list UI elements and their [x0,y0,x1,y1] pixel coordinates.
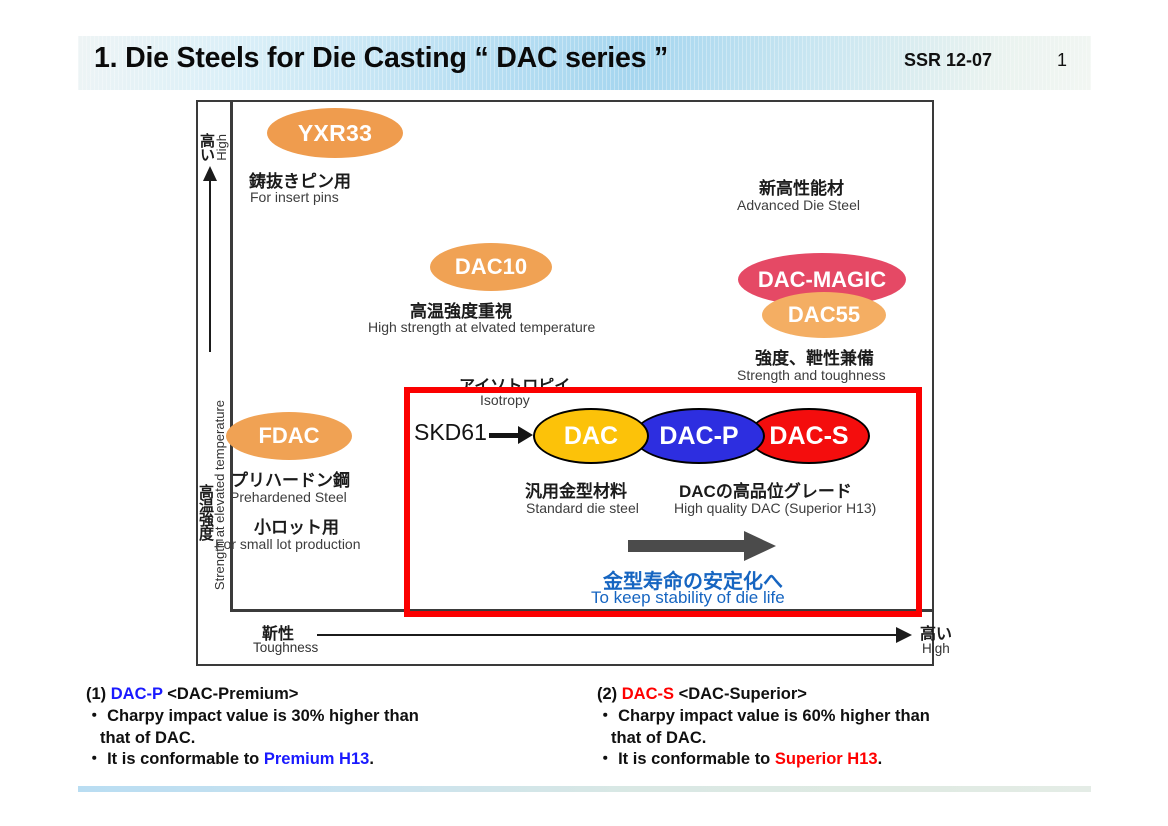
bubble-yxr33[interactable]: YXR33 [267,108,403,158]
note-dac-s-bullet1b: that of DAC. [597,728,1117,750]
caption-dac55-jp: 強度、靾性兼備 [755,344,874,369]
bubble-dac-magic-label: DAC-MAGIC [758,267,886,293]
bubble-dac55-label: DAC55 [788,302,860,328]
bubble-dac-label: DAC [564,422,618,451]
slide-canvas: 1. Die Steels for Die Casting “ DAC seri… [0,0,1168,826]
bubble-yxr33-label: YXR33 [298,120,372,147]
x-axis-line [230,609,932,612]
progress-arrow-icon [744,531,776,561]
skd61-arrow-icon [518,426,533,444]
note-dac-p-bullet1b: that of DAC. [86,728,586,750]
bubble-dac10[interactable]: DAC10 [430,243,552,291]
caption-advanced-jp: 新高性能材 [759,174,844,199]
note-dac-p-bullet1a: ・ Charpy impact value is 30% higher than [86,706,586,728]
note-dac-p-bullet2-accent: Premium H13 [264,750,369,768]
note-dac-s-bullet1a: ・ Charpy impact value is 60% higher than [597,706,1117,728]
note-dac-p-bullet2-suffix: . [369,750,374,768]
y-axis-high-label-en: High [214,134,229,161]
bubble-dac-p[interactable]: DAC-P [633,408,765,464]
note-dac-s-heading-accent: DAC-S [622,685,674,703]
caption-dac55-en: Strength and toughness [737,367,886,383]
annotation-isotropy-en: Isotropy [480,392,530,408]
note-dac-s-heading-suffix: <DAC-Superior> [674,685,807,703]
caption-fdac-en: Prehardened Steel [230,489,347,505]
x-axis-high-label-en: High [922,641,950,656]
bubble-dac-p-label: DAC-P [659,422,738,451]
bubble-dac10-label: DAC10 [455,254,527,280]
document-code: SSR 12-07 [904,50,992,71]
x-axis-title-en: Toughness [253,640,318,655]
bubble-fdac[interactable]: FDAC [226,412,352,460]
y-axis-high-label-jp: 高い [199,133,214,161]
page-number: 1 [1057,50,1067,71]
annotation-stability-en: To keep stability of die life [591,588,785,608]
bubble-dac-s[interactable]: DAC-S [748,408,870,464]
bubble-fdac-label: FDAC [258,423,319,449]
note-dac-s-bullet2-prefix: ・ It is conformable to [597,750,775,768]
footer-banner [78,786,1091,792]
caption-fdac-lot-en: For small lot production [215,536,361,552]
note-dac-p-bullet2-prefix: ・ It is conformable to [86,750,264,768]
y-axis-arrow-shaft [209,176,211,352]
note-dac-p-heading-accent: DAC-P [111,685,163,703]
y-axis-title-en: Strength at elevated temperature [212,400,227,590]
bubble-dac-s-label: DAC-S [769,422,848,451]
note-dac-s: (2) DAC-S <DAC-Superior> ・ Charpy impact… [597,684,1117,771]
caption-fdac-lot-jp: 小ロット用 [254,513,339,538]
caption-advanced-en: Advanced Die Steel [737,197,860,213]
caption-dac10-en: High strength at elvated temperature [368,319,595,335]
page-title: 1. Die Steels for Die Casting “ DAC seri… [94,42,668,75]
caption-dac-en: Standard die steel [526,500,639,516]
note-dac-p-heading-suffix: <DAC-Premium> [163,685,299,703]
note-dac-p: (1) DAC-P <DAC-Premium> ・ Charpy impact … [86,684,586,771]
caption-dac-jp: 汎用金型材料 [525,477,627,502]
note-dac-p-heading: (1) DAC-P <DAC-Premium> [86,684,586,706]
note-dac-s-bullet2-suffix: . [878,750,883,768]
label-skd61: SKD61 [414,419,487,446]
note-dac-s-bullet2-accent: Superior H13 [775,750,878,768]
note-dac-s-heading-prefix: (2) [597,685,622,703]
note-dac-p-heading-prefix: (1) [86,685,111,703]
skd61-arrow-shaft [489,433,520,438]
progress-arrow-shaft [628,540,746,552]
bubble-dac55[interactable]: DAC55 [762,292,886,338]
caption-fdac-jp: プリハードン鋼 [231,466,350,491]
note-dac-s-bullet2: ・ It is conformable to Superior H13. [597,749,1117,771]
x-axis-arrow-shaft [317,634,900,636]
y-axis-title-jp: 高温強度 [198,484,213,540]
caption-dac-s-en: High quality DAC (Superior H13) [674,500,876,516]
x-axis-arrow-icon [896,627,912,643]
bubble-dac[interactable]: DAC [533,408,649,464]
caption-yxr33-en: For insert pins [250,189,339,205]
note-dac-p-bullet2: ・ It is conformable to Premium H13. [86,749,586,771]
note-dac-s-heading: (2) DAC-S <DAC-Superior> [597,684,1117,706]
caption-dac-s-jp: DACの高品位グレード [679,477,852,502]
